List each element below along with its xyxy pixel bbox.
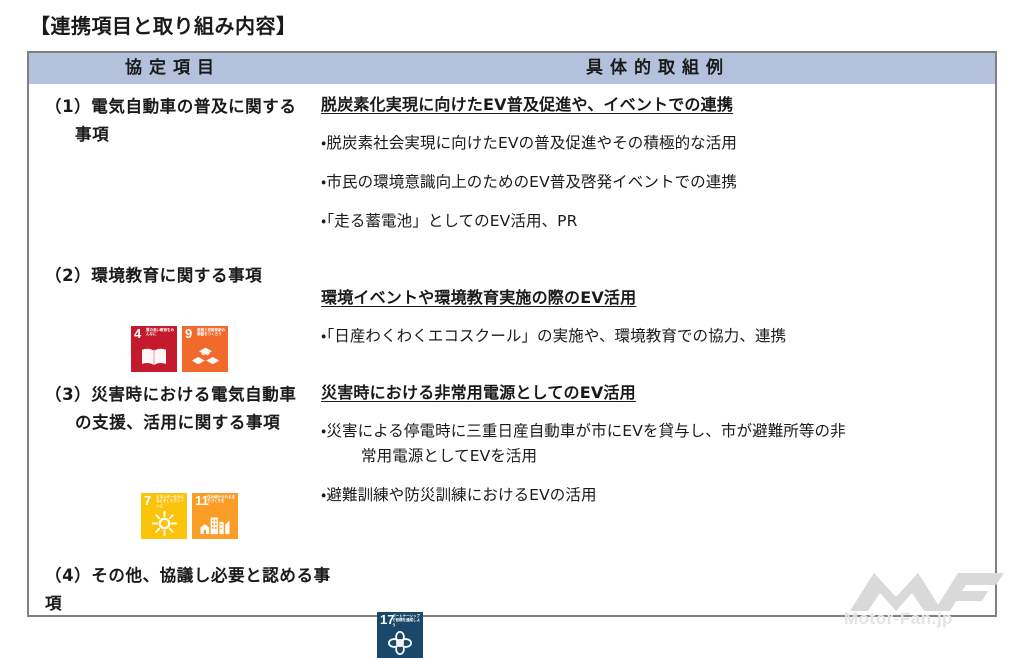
example-heading: 環境イベントや環境教育実施の際のEV活用	[321, 286, 993, 310]
agreement-item-line: 事項	[45, 121, 335, 149]
agreement-item-title: （1）電気自動車の普及に関する事項	[45, 93, 335, 149]
agreement-item-cell: （2）環境教育に関する事項 4 質の高い教育をみんなに 9 産業と技術革新の基盤…	[45, 262, 335, 372]
table-header-row: 協定項目 具体的取組例	[29, 53, 995, 84]
sdg-icon-9: 9 産業と技術革新の基盤をつくろう	[182, 326, 228, 372]
agreement-item-title: （4）その他、協議し必要と認める事項	[45, 562, 335, 618]
sdg-number-label: 9	[185, 327, 192, 340]
example-bullet-list: ・脱炭素社会実現に向けたEVの普及促進やその積極的な活用・市民の環境意識向上のた…	[321, 131, 993, 234]
sdg-number-label: 7	[144, 494, 151, 507]
example-bullet-continuation: 常用電源としてEVを活用	[341, 444, 993, 469]
example-bullet-list: ・災害による停電時に三重日産自動車が市にEVを貸与し、市が避難所等の非常用電源と…	[321, 419, 993, 508]
concrete-example-cell: 災害時における非常用電源としてのEV活用・災害による停電時に三重日産自動車が市に…	[321, 381, 993, 508]
agreement-item-cell: （1）電気自動車の普及に関する事項	[45, 93, 335, 149]
example-bullet-item: ・脱炭素社会実現に向けたEVの普及促進やその積極的な活用	[321, 131, 993, 156]
example-bullet-item: ・「日産わくわくエコスクール」の実施や、環境教育での協力、連携	[321, 324, 993, 349]
agreement-item-title: （2）環境教育に関する事項	[45, 262, 335, 290]
agreement-item-cell: （4）その他、協議し必要と認める事項 17 パートナーシップで目標を達成しよう	[45, 562, 335, 658]
sdg-number-label: 4	[134, 327, 141, 340]
sdg-icon-group: 4 質の高い教育をみんなに 9 産業と技術革新の基盤をつくろう	[131, 326, 335, 372]
agreement-item-line: （2）環境教育に関する事項	[45, 262, 335, 290]
agreement-item-line: （1）電気自動車の普及に関する	[45, 93, 335, 121]
sdg-glyph-cubes-icon	[182, 343, 228, 370]
page-title: 【連携項目と取り組み内容】	[30, 10, 297, 39]
concrete-example-cell: 脱炭素化実現に向けたEV普及促進や、イベントでの連携・脱炭素社会実現に向けたEV…	[321, 93, 993, 234]
sdg-glyph-open-book-icon	[131, 343, 177, 370]
sdg-icon-7: 7 エネルギーをみんなにそしてクリーンに	[141, 493, 187, 539]
example-bullet-item: ・市民の環境意識向上のためのEV普及啓発イベントでの連携	[321, 170, 993, 195]
sdg-icon-4: 4 質の高い教育をみんなに	[131, 326, 177, 372]
column-header-agreement-items: 協定項目	[29, 53, 317, 84]
agreement-item-line: （4）その他、協議し必要と認める事項	[45, 562, 335, 618]
agreement-table: 協定項目 具体的取組例 （1）電気自動車の普及に関する事項脱炭素化実現に向けたE…	[27, 51, 997, 617]
sdg-icon-11: 11 住み続けられるまちづくりを	[192, 493, 238, 539]
example-heading: 災害時における非常用電源としてのEV活用	[321, 381, 993, 405]
example-bullet-list: ・「日産わくわくエコスクール」の実施や、環境教育での協力、連携	[321, 324, 993, 349]
sdg-icon-group: 7 エネルギーをみんなにそしてクリーンに 11 住み続けられるまちづくりを	[141, 493, 335, 539]
agreement-item-line: の支援、活用に関する事項	[45, 409, 335, 437]
sdg-caption-label: 住み続けられるまちづくりを	[207, 495, 237, 504]
agreement-item-line: （3）災害時における電気自動車	[45, 381, 335, 409]
sdg-icon-17: 17 パートナーシップで目標を達成しよう	[377, 612, 423, 658]
example-bullet-item: ・災害による停電時に三重日産自動車が市にEVを貸与し、市が避難所等の非常用電源と…	[321, 419, 993, 469]
table-body: （1）電気自動車の普及に関する事項脱炭素化実現に向けたEV普及促進や、イベントで…	[29, 84, 995, 617]
example-heading: 脱炭素化実現に向けたEV普及促進や、イベントでの連携	[321, 93, 993, 117]
sdg-caption-label: 産業と技術革新の基盤をつくろう	[197, 328, 227, 337]
agreement-item-title: （3）災害時における電気自動車の支援、活用に関する事項	[45, 381, 335, 437]
sdg-caption-label: パートナーシップで目標を達成しよう	[392, 614, 422, 627]
example-bullet-item: ・避難訓練や防災訓練におけるEVの活用	[321, 483, 993, 508]
sdg-caption-label: エネルギーをみんなにそしてクリーンに	[156, 495, 186, 508]
sdg-glyph-circle-rings-icon	[377, 629, 423, 656]
column-header-concrete-examples: 具体的取組例	[317, 53, 999, 84]
example-bullet-item: ・「走る蓄電池」としてのEV活用、PR	[321, 209, 993, 234]
agreement-item-cell: （3）災害時における電気自動車の支援、活用に関する事項 7 エネルギーをみんなに…	[45, 381, 335, 539]
sdg-glyph-sun-icon	[141, 510, 187, 537]
sdg-caption-label: 質の高い教育をみんなに	[146, 328, 176, 337]
concrete-example-cell: 環境イベントや環境教育実施の際のEV活用・「日産わくわくエコスクール」の実施や、…	[321, 286, 993, 349]
sdg-glyph-buildings-icon	[192, 510, 238, 537]
